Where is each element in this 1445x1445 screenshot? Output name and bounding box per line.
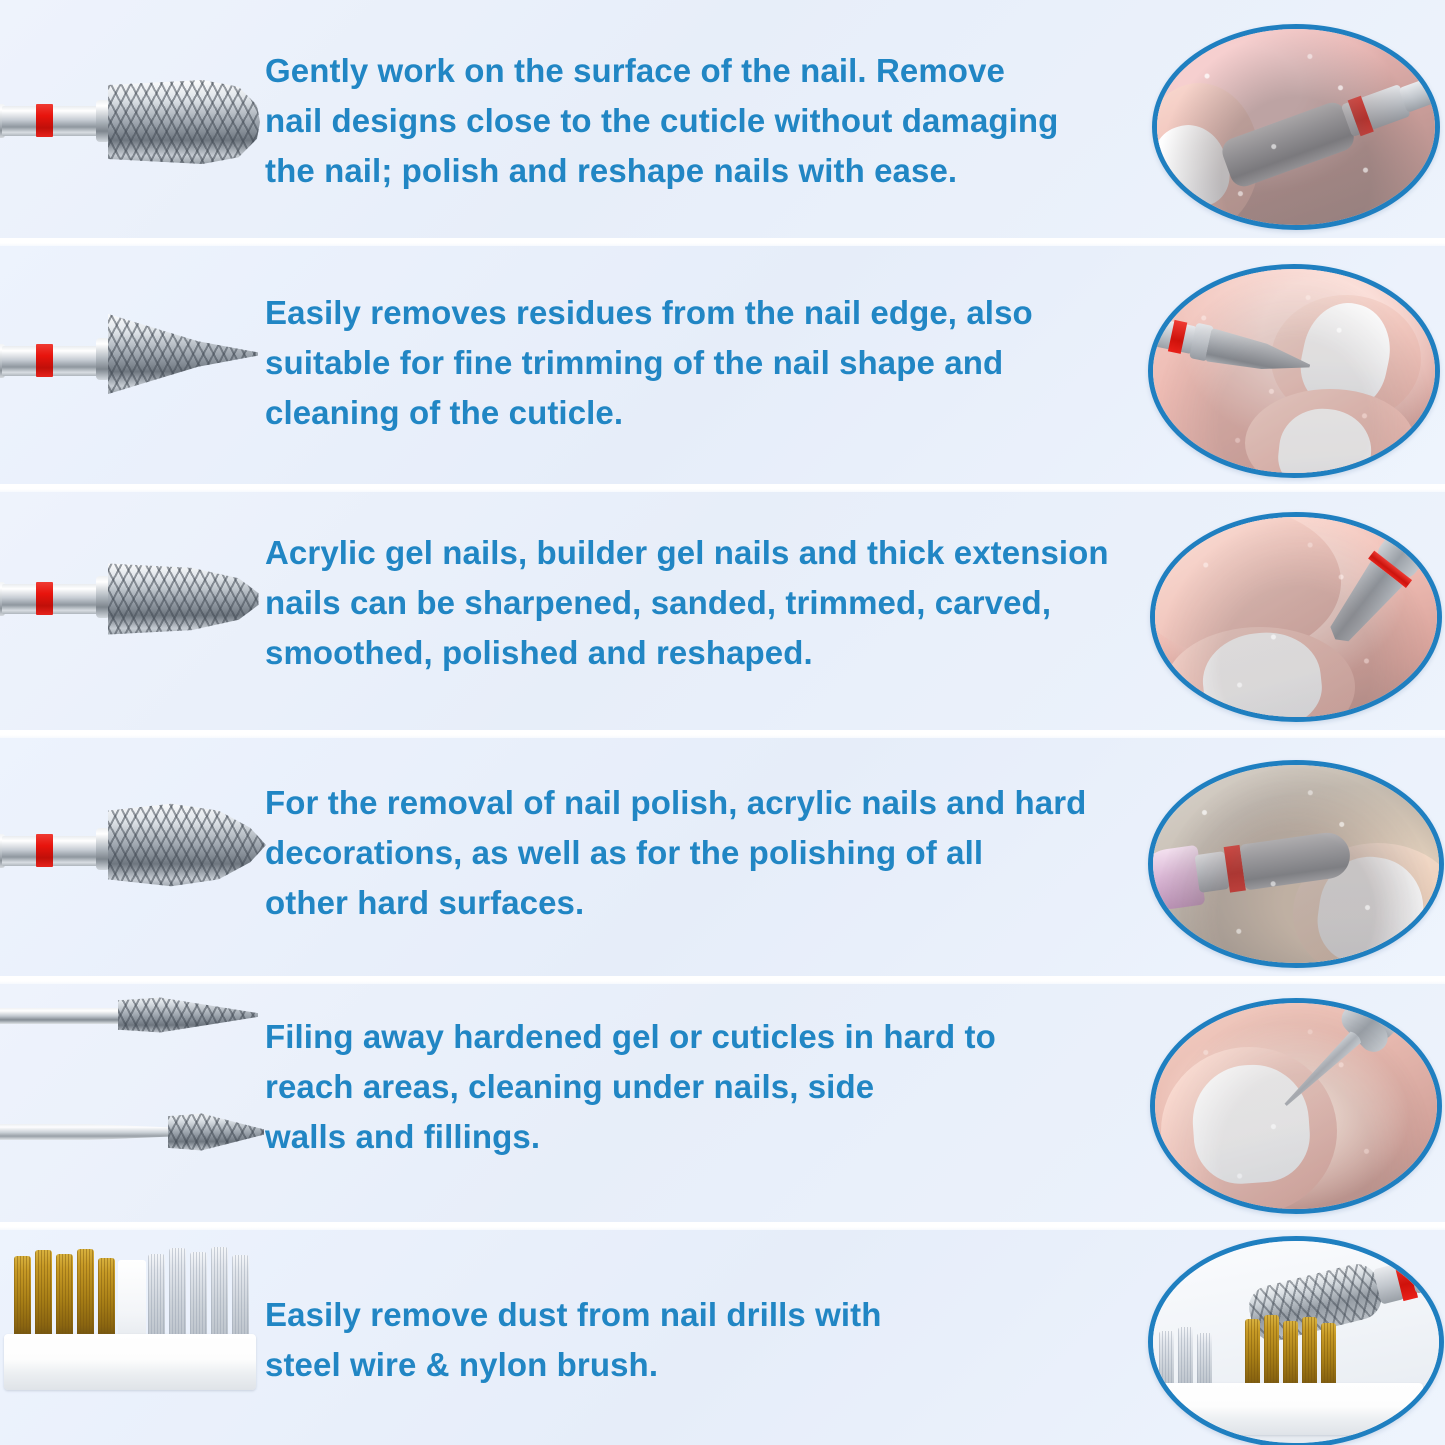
feature-row-2: Easily removes residues from the nail ed… (0, 246, 1445, 487)
feature-text-3: Acrylic gel nails, builder gel nails and… (265, 528, 1155, 678)
feature-row-6: Easily remove dust from nail drills with… (0, 1230, 1445, 1445)
photo-brush-cleaning-bit (1148, 1236, 1444, 1445)
bit-illustration-4 (0, 738, 262, 979)
feature-text-2: Easily removes residues from the nail ed… (265, 288, 1105, 438)
row-separator-3 (0, 730, 1445, 738)
row-separator-5 (0, 1222, 1445, 1230)
photo-barrel-bit-on-nail (1152, 24, 1440, 230)
feature-text-4: For the removal of nail polish, acrylic … (265, 778, 1135, 928)
infographic-page: Gently work on the surface of the nail. … (0, 0, 1445, 1445)
row-separator-2 (0, 484, 1445, 492)
row-separator-4 (0, 976, 1445, 984)
bit-illustration-2 (0, 246, 262, 487)
photo-cone-bit-on-nail-edge (1148, 264, 1440, 478)
row-separator-1 (0, 238, 1445, 246)
feature-row-1: Gently work on the surface of the nail. … (0, 0, 1445, 241)
feature-text-1: Gently work on the surface of the nail. … (265, 46, 1115, 196)
feature-row-4: For the removal of nail polish, acrylic … (0, 738, 1445, 979)
bit-illustration-5 (0, 984, 262, 1225)
bit-illustration-3 (0, 492, 262, 733)
feature-text-6: Easily remove dust from nail drills with… (265, 1290, 1055, 1390)
feature-row-5: Filing away hardened gel or cuticles in … (0, 984, 1445, 1225)
feature-text-5: Filing away hardened gel or cuticles in … (265, 1012, 1065, 1162)
photo-tapered-bit-on-gel-nail (1150, 512, 1442, 722)
feature-row-3: Acrylic gel nails, builder gel nails and… (0, 492, 1445, 733)
photo-needle-bit-under-nail (1150, 998, 1442, 1214)
bit-illustration-6 (0, 1230, 262, 1445)
photo-flame-bit-removing-polish (1148, 760, 1444, 968)
bit-illustration-1 (0, 0, 262, 241)
